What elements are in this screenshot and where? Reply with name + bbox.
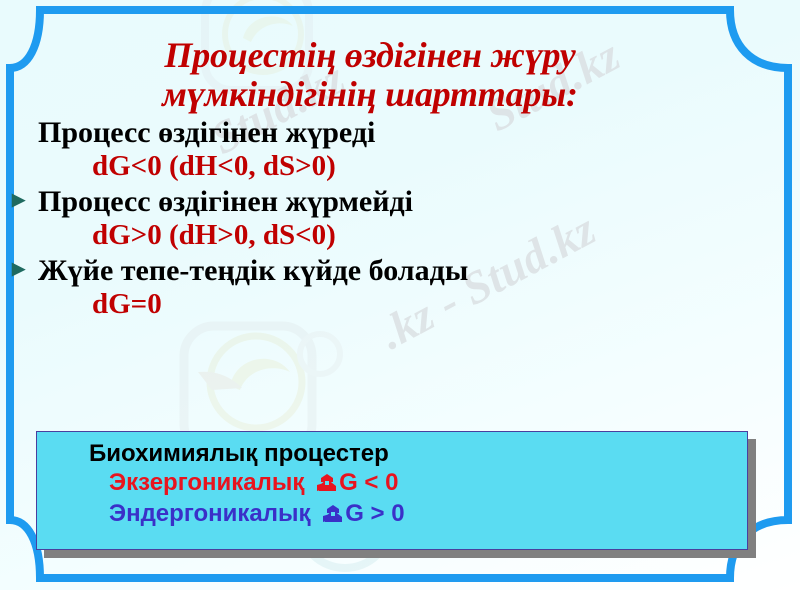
- triangle-bullet-icon: ▶: [12, 260, 38, 277]
- list-item-label: Жүйе тепе-теңдік күйде болады: [38, 256, 468, 287]
- list-item-formula: dG=0: [0, 290, 780, 320]
- triangle-bullet-icon: ▶: [12, 191, 38, 208]
- missing-glyph-delta-icon: [317, 473, 338, 493]
- title-line-1: Процестің өздігінен жүру: [164, 35, 575, 75]
- title-line-2: мүмкіндігінің шарттары:: [0, 75, 740, 114]
- list-item-label: Процесс өздігінен жүреді: [38, 118, 375, 149]
- callout-row-expression: G < 0: [339, 469, 398, 496]
- callout-row-endergonic: Эндергоникалық G > 0: [37, 499, 747, 530]
- callout-row-label: Эндергоникалық: [109, 500, 311, 527]
- callout-row-label: Экзергоникалық: [109, 469, 304, 496]
- callout-box: Биохимиялық процестер Экзергоникалық G <…: [36, 431, 748, 550]
- callout-row-expression: G > 0: [345, 500, 404, 527]
- page-title: Процестің өздігінен жүру мүмкіндігінің ш…: [0, 36, 740, 114]
- conditions-list: Процесс өздігінен жүреді dG<0 (dH<0, dS>…: [0, 118, 780, 320]
- list-item-head: ▶ Жүйе тепе-теңдік күйде болады: [0, 256, 780, 287]
- list-item-formula: dG>0 (dH>0, dS<0): [0, 221, 780, 251]
- list-item-label: Процесс өздігінен жүрмейді: [38, 187, 413, 218]
- list-item: ▶ Процесс өздігінен жүрмейді dG>0 (dH>0,…: [0, 187, 780, 250]
- watermark-text: Stud.kz: [548, 576, 699, 590]
- list-item-head: Процесс өздігінен жүреді: [0, 118, 780, 149]
- callout-row-exergonic: Экзергоникалық G < 0: [37, 468, 747, 499]
- callout-box-title: Биохимиялық процестер: [37, 432, 747, 468]
- list-item: ▶ Жүйе тепе-теңдік күйде болады dG=0: [0, 256, 780, 319]
- slide-canvas: Stud.kz .kz - Stud.kz Stud.kz Stud.kz St…: [0, 0, 800, 590]
- list-item-head: ▶ Процесс өздігінен жүрмейді: [0, 187, 780, 218]
- missing-glyph-delta-icon: [323, 504, 344, 524]
- list-item-formula: dG<0 (dH<0, dS>0): [0, 152, 780, 182]
- list-item: Процесс өздігінен жүреді dG<0 (dH<0, dS>…: [0, 118, 780, 181]
